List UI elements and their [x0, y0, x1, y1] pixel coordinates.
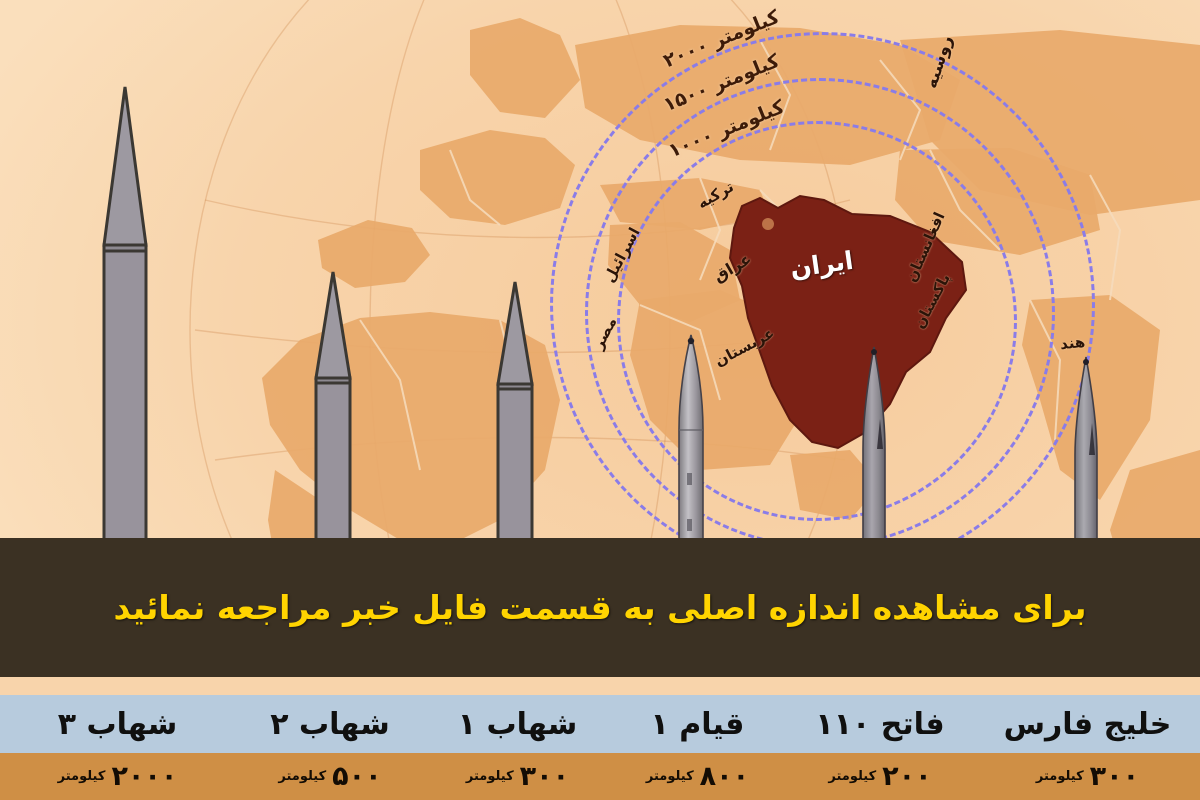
missile-name-qiam-1: قیام ۱ — [610, 695, 785, 753]
range-ring-2000 — [550, 32, 1095, 577]
missile-name-fateh-110: فاتح ۱۱۰ — [785, 695, 975, 753]
missile-range-value-shahab-3: ۲۰۰۰ — [111, 761, 177, 792]
missile-name-shahab-2: شهاب ۲ — [235, 695, 425, 753]
missile-range-shahab-1: ۳۰۰ کیلومتر — [425, 753, 610, 800]
missile-name-shahab-3: شهاب ۳ — [0, 695, 235, 753]
missile-range-shahab-3: ۲۰۰۰ کیلومتر — [0, 753, 235, 800]
missile-range-value-persian-gulf: ۳۰۰ — [1090, 761, 1139, 792]
missile-range-shahab-2: ۵۰۰ کیلومتر — [235, 753, 425, 800]
missile-range-fateh-110: ۲۰۰ کیلومتر — [785, 753, 975, 800]
peach-strip — [0, 677, 1200, 695]
missile-range-value-fateh-110: ۲۰۰ — [882, 761, 931, 792]
infographic-root: ۱۰۰۰ کیلومتر ۱۵۰۰ کیلومتر ۲۰۰۰ کیلومتر ا… — [0, 0, 1200, 800]
missile-name-shahab-1: شهاب ۱ — [425, 695, 610, 753]
missile-range-value-qiam-1: ۸۰۰ — [700, 761, 749, 792]
missile-range-value-shahab-1: ۳۰۰ — [520, 761, 569, 792]
missile-range-persian-gulf: ۳۰۰ کیلومتر — [975, 753, 1200, 800]
missile-range-qiam-1: ۸۰۰ کیلومتر — [610, 753, 785, 800]
missile-range-value-shahab-2: ۵۰۰ — [332, 761, 381, 792]
missile-range-unit-shahab-1: کیلومتر — [466, 769, 514, 784]
missile-range-unit-persian-gulf: کیلومتر — [1036, 769, 1084, 784]
missile-range-unit-fateh-110: کیلومتر — [828, 769, 876, 784]
notice-banner: برای مشاهده اندازه اصلی به قسمت فایل خبر… — [0, 538, 1200, 677]
notice-banner-text: برای مشاهده اندازه اصلی به قسمت فایل خبر… — [113, 588, 1086, 627]
missile-name-persian-gulf: خلیج فارس — [975, 695, 1200, 753]
missile-range-unit-qiam-1: کیلومتر — [646, 769, 694, 784]
missile-range-unit-shahab-2: کیلومتر — [278, 769, 326, 784]
missile-range-unit-shahab-3: کیلومتر — [58, 769, 106, 784]
